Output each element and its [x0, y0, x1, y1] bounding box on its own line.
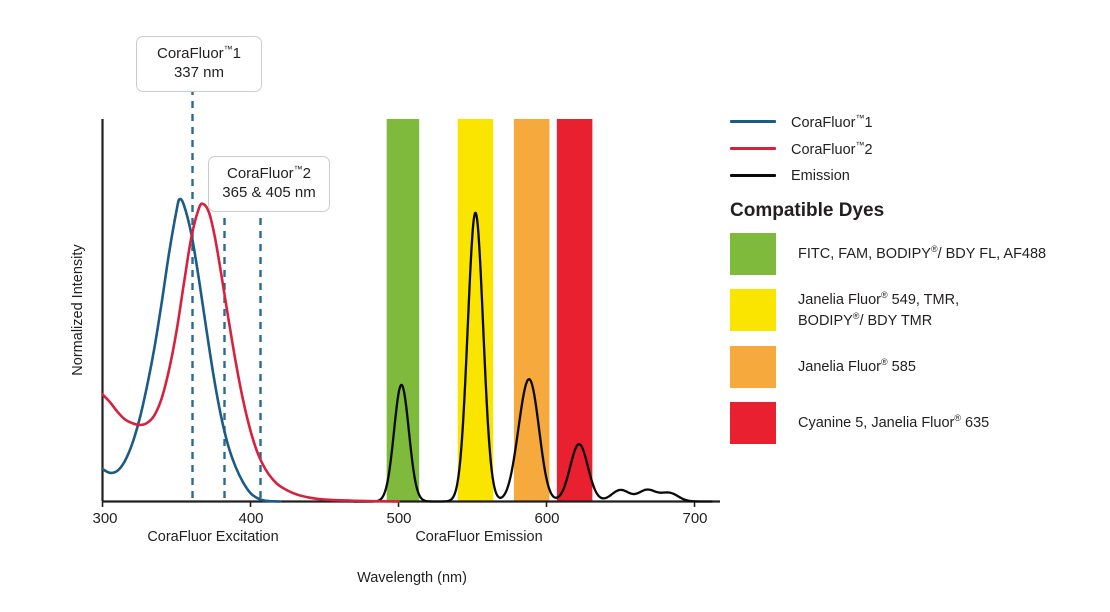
- compatible-dyes-list: FITC, FAM, BODIPY®/ BDY FL, AF488 Janeli…: [730, 233, 1110, 456]
- band-yellow: [458, 119, 494, 501]
- dye-item-red: Cyanine 5, Janelia Fluor® 635: [730, 402, 1110, 444]
- dye-swatch-orange: [730, 346, 776, 388]
- region-label-emission: CoraFluor Emission: [415, 529, 542, 545]
- dye-label-green: FITC, FAM, BODIPY®/ BDY FL, AF488: [798, 243, 1046, 264]
- xtick-300: 300: [92, 510, 117, 527]
- band-orange: [514, 119, 550, 501]
- xtick-500: 500: [386, 510, 411, 527]
- dye-swatch-yellow: [730, 289, 776, 331]
- curve-corafluor2: [103, 204, 399, 502]
- legend-item-corafluor2: CoraFluor™2: [730, 135, 1100, 162]
- annotation-box-corafluor2: CoraFluor™2 365 & 405 nm: [208, 156, 330, 212]
- xtick-600: 600: [534, 510, 559, 527]
- y-axis-title: Normalized Intensity: [70, 244, 86, 376]
- chart-legend: CoraFluor™1 CoraFluor™2 Emission: [730, 108, 1100, 189]
- annotation-box2-line2: 365 & 405 nm: [219, 184, 319, 203]
- legend-item-emission: Emission: [730, 162, 1100, 189]
- xtick-400: 400: [238, 510, 263, 527]
- legend-swatch-corafluor2: [730, 147, 776, 150]
- dye-label-yellow: Janelia Fluor® 549, TMR, BODIPY®/ BDY TM…: [798, 289, 959, 332]
- legend-swatch-corafluor1: [730, 120, 776, 123]
- legend-swatch-emission: [730, 174, 776, 177]
- dye-label-red: Cyanine 5, Janelia Fluor® 635: [798, 412, 989, 433]
- legend-item-corafluor1: CoraFluor™1: [730, 108, 1100, 135]
- dye-item-green: FITC, FAM, BODIPY®/ BDY FL, AF488: [730, 233, 1110, 275]
- legend-label-corafluor1: CoraFluor™1: [791, 113, 873, 131]
- x-axis-title: Wavelength (nm): [357, 570, 467, 586]
- annotation-box1-line1: CoraFluor™1: [147, 44, 251, 64]
- region-labels: CoraFluor Excitation CoraFluor Emission: [147, 529, 542, 545]
- region-label-excitation: CoraFluor Excitation: [147, 529, 278, 545]
- annotation-box1-line2: 337 nm: [147, 64, 251, 83]
- annotation-box2-line1: CoraFluor™2: [219, 164, 319, 184]
- dye-label-orange: Janelia Fluor® 585: [798, 356, 916, 377]
- legend-label-emission: Emission: [791, 168, 850, 184]
- xtick-700: 700: [682, 510, 707, 527]
- annotation-box-corafluor1: CoraFluor™1 337 nm: [136, 36, 262, 92]
- band-red: [557, 119, 593, 501]
- compatible-dyes-title: Compatible Dyes: [730, 200, 884, 222]
- dye-item-yellow: Janelia Fluor® 549, TMR, BODIPY®/ BDY TM…: [730, 289, 1110, 332]
- x-tick-labels: 300 400 500 600 700: [92, 510, 707, 527]
- dye-swatch-red: [730, 402, 776, 444]
- legend-label-corafluor2: CoraFluor™2: [791, 140, 873, 158]
- dye-swatch-green: [730, 233, 776, 275]
- dye-item-orange: Janelia Fluor® 585: [730, 346, 1110, 388]
